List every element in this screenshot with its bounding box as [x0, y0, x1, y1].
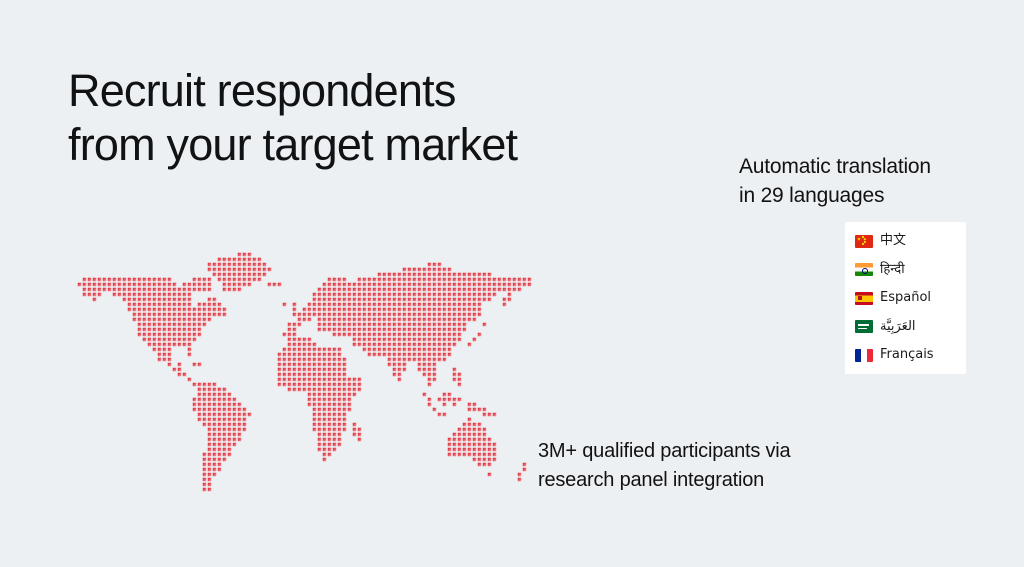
list-item[interactable]: Español	[855, 285, 966, 311]
language-label: Français	[880, 347, 934, 363]
list-item[interactable]: Français	[855, 342, 966, 368]
language-label: 中文	[880, 233, 906, 249]
flag-china-icon	[855, 235, 873, 248]
list-item[interactable]: हिन्दी	[855, 257, 966, 283]
translation-heading: Automatic translation in 29 languages	[739, 152, 1019, 210]
language-label: العَرَبِيَّة	[880, 319, 916, 335]
participants-stat: 3M+ qualified participants via research …	[538, 437, 898, 495]
flag-france-icon	[855, 349, 873, 362]
list-item[interactable]: العَرَبِيَّة	[855, 314, 966, 340]
language-label: हिन्दी	[880, 262, 905, 278]
slide-canvas: Recruit respondents from your target mar…	[0, 0, 1024, 567]
language-list-card[interactable]: 中文 हिन्दी Español العَرَبِيَّة Français	[845, 222, 966, 374]
page-title: Recruit respondents from your target mar…	[68, 64, 688, 172]
list-item[interactable]: 中文	[855, 228, 966, 254]
flag-india-icon	[855, 263, 873, 276]
flag-saudi-arabia-icon	[855, 320, 873, 333]
language-label: Español	[880, 290, 931, 306]
flag-spain-icon	[855, 292, 873, 305]
dotted-world-map	[62, 252, 532, 502]
world-map-canvas	[62, 252, 532, 502]
